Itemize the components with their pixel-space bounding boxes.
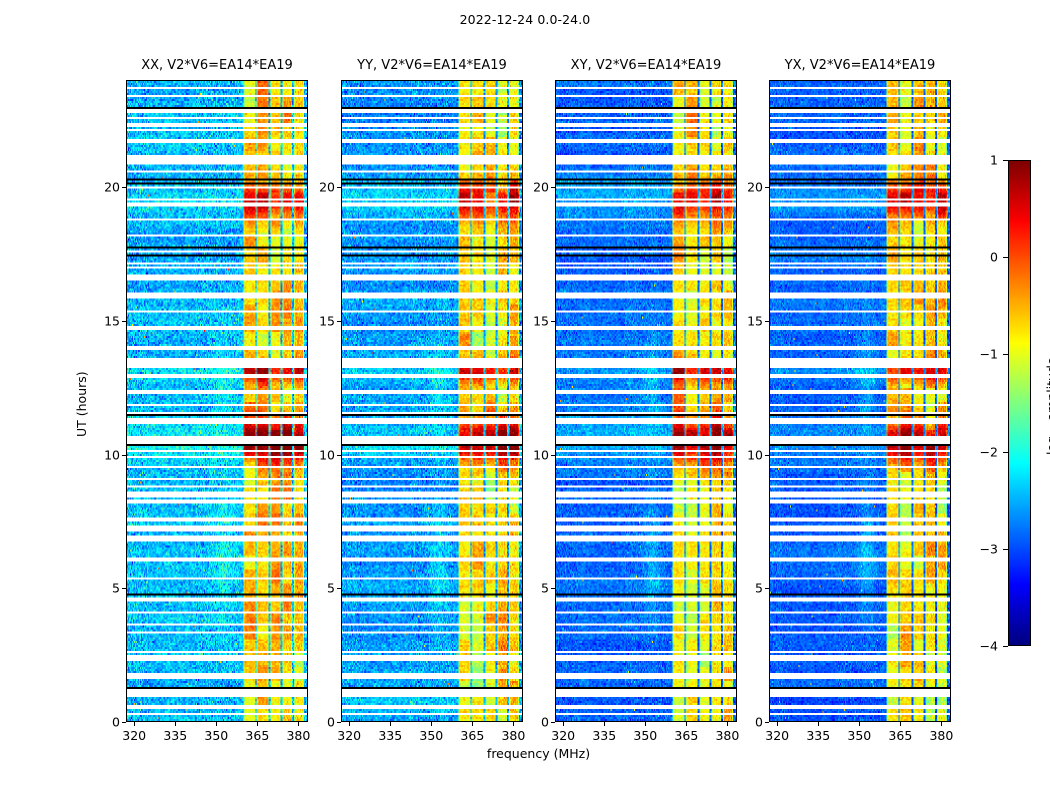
colorbar-tickmark — [1003, 549, 1008, 550]
y-ticklabel: 10 — [733, 447, 763, 462]
x-ticklabel: 350 — [419, 728, 443, 743]
x-ticklabel: 365 — [245, 728, 269, 743]
y-tickmark — [337, 187, 341, 188]
y-ticklabel: 5 — [519, 581, 549, 596]
y-tickmark — [551, 588, 555, 589]
x-tickmark — [777, 722, 778, 726]
colorbar-ticklabel: −4 — [964, 639, 998, 654]
y-ticklabel: 15 — [90, 313, 120, 328]
x-tickmark — [175, 722, 176, 726]
x-ticklabel: 350 — [847, 728, 871, 743]
y-ticklabel: 15 — [733, 313, 763, 328]
x-tickmark — [431, 722, 432, 726]
y-ticklabel: 5 — [305, 581, 335, 596]
y-ticklabel: 15 — [519, 313, 549, 328]
x-ticklabel: 320 — [551, 728, 575, 743]
x-tickmark — [818, 722, 819, 726]
x-ticklabel: 365 — [460, 728, 484, 743]
panel-title-xx: XX, V2*V6=EA14*EA19 — [141, 58, 293, 73]
x-ticklabel: 350 — [204, 728, 228, 743]
y-ticklabel: 0 — [305, 715, 335, 730]
y-tickmark — [337, 722, 341, 723]
x-axis-label: frequency (MHz) — [487, 746, 590, 761]
x-ticklabel: 320 — [122, 728, 146, 743]
x-tickmark — [900, 722, 901, 726]
panel-yx: YX, V2*V6=EA14*EA19 — [769, 80, 951, 722]
colorbar-ticklabel: −1 — [964, 347, 998, 362]
x-ticklabel: 380 — [929, 728, 953, 743]
x-tickmark — [298, 722, 299, 726]
x-tickmark — [390, 722, 391, 726]
x-tickmark — [859, 722, 860, 726]
colorbar-ticklabel: 1 — [964, 153, 998, 168]
x-ticklabel: 365 — [674, 728, 698, 743]
panel-title-yx: YX, V2*V6=EA14*EA19 — [785, 58, 936, 73]
waterfall-image-yy — [342, 81, 522, 721]
y-tickmark — [122, 588, 126, 589]
colorbar-tickmark — [1003, 257, 1008, 258]
x-ticklabel: 335 — [592, 728, 616, 743]
x-tickmark — [513, 722, 514, 726]
y-ticklabel: 5 — [733, 581, 763, 596]
colorbar-tickmark — [1003, 354, 1008, 355]
x-tickmark — [727, 722, 728, 726]
x-tickmark — [604, 722, 605, 726]
figure-suptitle: 2022-12-24 0.0-24.0 — [0, 12, 1050, 27]
x-ticklabel: 380 — [286, 728, 310, 743]
x-ticklabel: 335 — [806, 728, 830, 743]
panel-title-yy: YY, V2*V6=EA14*EA19 — [357, 58, 507, 73]
x-tickmark — [216, 722, 217, 726]
panel-title-xy: XY, V2*V6=EA14*EA19 — [571, 58, 722, 73]
waterfall-yy[interactable] — [341, 80, 523, 722]
x-tickmark — [257, 722, 258, 726]
y-ticklabel: 10 — [519, 447, 549, 462]
y-tickmark — [551, 321, 555, 322]
y-axis-label: UT (hours) — [74, 371, 89, 437]
y-tickmark — [765, 455, 769, 456]
y-tickmark — [551, 722, 555, 723]
x-tickmark — [645, 722, 646, 726]
x-ticklabel: 335 — [163, 728, 187, 743]
y-ticklabel: 20 — [90, 180, 120, 195]
colorbar-ticklabel: 0 — [964, 250, 998, 265]
y-tickmark — [122, 321, 126, 322]
y-ticklabel: 0 — [733, 715, 763, 730]
colorbar-ticklabel: −2 — [964, 444, 998, 459]
y-ticklabel: 15 — [305, 313, 335, 328]
colorbar-ticklabel: −3 — [964, 541, 998, 556]
y-ticklabel: 20 — [519, 180, 549, 195]
x-ticklabel: 320 — [337, 728, 361, 743]
x-tickmark — [563, 722, 564, 726]
y-ticklabel: 5 — [90, 581, 120, 596]
x-ticklabel: 320 — [765, 728, 789, 743]
y-ticklabel: 20 — [305, 180, 335, 195]
x-tickmark — [941, 722, 942, 726]
waterfall-xy[interactable] — [555, 80, 737, 722]
waterfall-xx[interactable] — [126, 80, 308, 722]
y-ticklabel: 0 — [90, 715, 120, 730]
panel-xy: XY, V2*V6=EA14*EA19 — [555, 80, 737, 722]
x-tickmark — [472, 722, 473, 726]
waterfall-image-xx — [127, 81, 307, 721]
x-ticklabel: 380 — [501, 728, 525, 743]
colorbar-label-suffix: amplitude — [1044, 357, 1050, 424]
y-tickmark — [122, 455, 126, 456]
y-ticklabel: 10 — [305, 447, 335, 462]
x-ticklabel: 365 — [888, 728, 912, 743]
y-tickmark — [337, 321, 341, 322]
x-ticklabel: 335 — [378, 728, 402, 743]
y-ticklabel: 20 — [733, 180, 763, 195]
x-tickmark — [349, 722, 350, 726]
y-tickmark — [765, 722, 769, 723]
colorbar — [1008, 160, 1031, 646]
panel-yy: YY, V2*V6=EA14*EA19 — [341, 80, 523, 722]
y-tickmark — [337, 455, 341, 456]
colorbar-tickmark — [1003, 160, 1008, 161]
x-tickmark — [686, 722, 687, 726]
x-ticklabel: 350 — [633, 728, 657, 743]
colorbar-tickmark — [1003, 646, 1008, 647]
waterfall-yx[interactable] — [769, 80, 951, 722]
colorbar-tickmark — [1003, 452, 1008, 453]
panel-xx: XX, V2*V6=EA14*EA19 — [126, 80, 308, 722]
colorbar-gradient — [1008, 160, 1031, 646]
colorbar-label: log10 amplitude — [1044, 357, 1050, 455]
x-ticklabel: 380 — [715, 728, 739, 743]
x-tickmark — [134, 722, 135, 726]
y-tickmark — [337, 588, 341, 589]
y-tickmark — [551, 455, 555, 456]
y-tickmark — [551, 187, 555, 188]
y-tickmark — [765, 187, 769, 188]
y-tickmark — [122, 187, 126, 188]
y-ticklabel: 0 — [519, 715, 549, 730]
figure-canvas: 2022-12-24 0.0-24.0 XX, V2*V6=EA14*EA193… — [0, 0, 1050, 800]
y-tickmark — [122, 722, 126, 723]
y-tickmark — [765, 321, 769, 322]
y-ticklabel: 10 — [90, 447, 120, 462]
waterfall-image-xy — [556, 81, 736, 721]
colorbar-label-prefix: log — [1044, 436, 1050, 455]
y-tickmark — [765, 588, 769, 589]
waterfall-image-yx — [770, 81, 950, 721]
